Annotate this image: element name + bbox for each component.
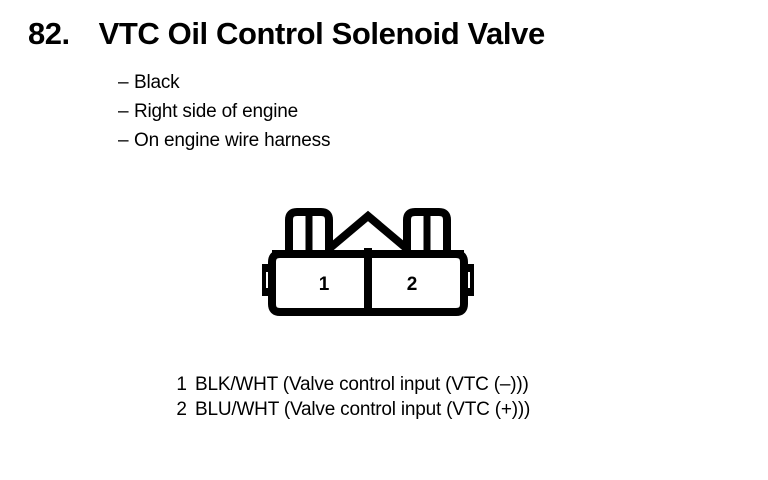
- pin-number: 1: [172, 372, 187, 397]
- pinout-row: 1 BLK/WHT (Valve control input (VTC (–))…: [172, 372, 530, 397]
- pinout-legend: 1 BLK/WHT (Valve control input (VTC (–))…: [172, 372, 530, 422]
- list-item: – Black: [118, 68, 330, 97]
- pinout-row: 2 BLU/WHT (Valve control input (VTC (+))…: [172, 397, 530, 422]
- list-item-label: On engine wire harness: [134, 126, 330, 155]
- dash-marker: –: [118, 68, 134, 97]
- pin-description: BLU/WHT (Valve control input (VTC (+))): [195, 397, 530, 422]
- item-number: 82.: [28, 18, 70, 49]
- connector-svg: 1 2: [262, 198, 474, 322]
- list-item: – Right side of engine: [118, 97, 330, 126]
- list-item: – On engine wire harness: [118, 126, 330, 155]
- page-heading: 82. VTC Oil Control Solenoid Valve: [28, 18, 545, 49]
- page-title: VTC Oil Control Solenoid Valve: [99, 18, 545, 49]
- dash-marker: –: [118, 126, 134, 155]
- list-item-label: Right side of engine: [134, 97, 298, 126]
- center-peak: [330, 216, 406, 248]
- detail-list: – Black – Right side of engine – On engi…: [118, 68, 330, 155]
- dash-marker: –: [118, 97, 134, 126]
- pin-number: 2: [172, 397, 187, 422]
- cavity-label-2: 2: [407, 274, 418, 295]
- list-item-label: Black: [134, 68, 179, 97]
- cavity-label-1: 1: [319, 274, 330, 295]
- connector-diagram: 1 2: [262, 198, 474, 322]
- pin-description: BLK/WHT (Valve control input (VTC (–))): [195, 372, 529, 397]
- diagram-page: 82. VTC Oil Control Solenoid Valve – Bla…: [0, 0, 768, 480]
